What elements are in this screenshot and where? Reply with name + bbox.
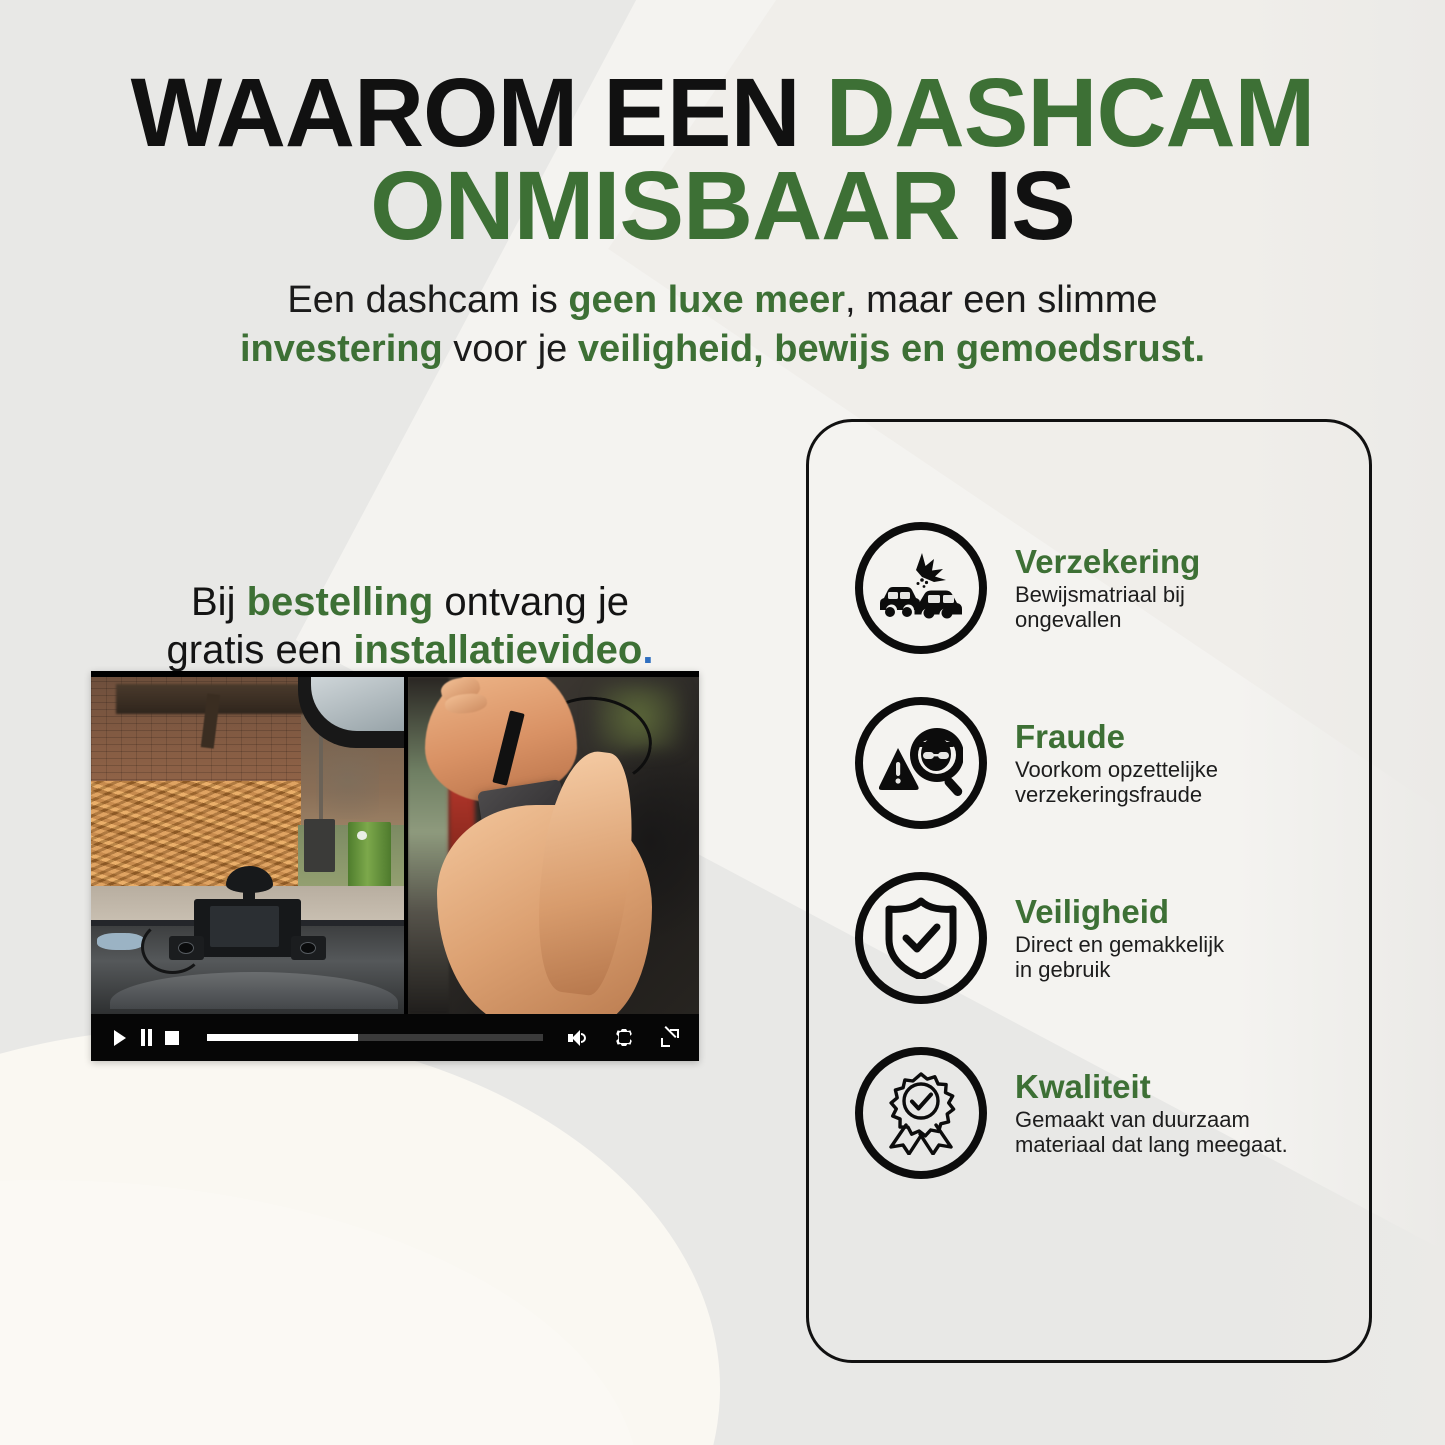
play-icon xyxy=(114,1030,126,1046)
video-thumbnail-dashcam-installed xyxy=(91,677,404,1014)
installation-video-player[interactable] xyxy=(91,671,699,1061)
feature-item-fraude: Fraude Voorkom opzettelijke verzekerings… xyxy=(855,697,1355,829)
video-controls-right xyxy=(565,1025,683,1051)
feature-title: Veiligheid xyxy=(1015,895,1355,930)
stop-icon xyxy=(165,1031,179,1045)
photo-dashcam-dashboard xyxy=(91,677,404,1014)
feature-item-veiligheid: Veiligheid Direct en gemakkelijk in gebr… xyxy=(855,872,1355,1004)
subtitle-bold-3: veiligheid, bewijs en gemoedsrust. xyxy=(578,328,1205,370)
fullscreen-icon xyxy=(661,1029,679,1047)
caption-bold-2: installatievideo xyxy=(353,628,642,672)
headline-line-2-black: IS xyxy=(985,151,1075,260)
photo-blue-object xyxy=(97,933,144,950)
gear-icon xyxy=(616,1029,633,1046)
fullscreen-button[interactable] xyxy=(657,1025,683,1051)
settings-button[interactable] xyxy=(611,1025,637,1051)
photo-bin-dark xyxy=(304,819,335,873)
subtitle-part-1: Een dashcam is xyxy=(287,279,568,321)
caption-part-3: gratis een xyxy=(167,628,354,672)
caption-bold-1: bestelling xyxy=(247,580,434,624)
headline-line-2-green: ONMISBAAR xyxy=(370,151,985,260)
feature-text-kwaliteit: Kwaliteit Gemaakt van duurzaam materiaal… xyxy=(1015,1068,1355,1157)
photo-hands-holding-module xyxy=(408,677,699,1014)
feature-text-fraude: Fraude Voorkom opzettelijke verzekerings… xyxy=(1015,718,1355,807)
video-thumbnail-hands-module xyxy=(408,677,699,1014)
photo-power-cable xyxy=(141,920,204,974)
subtitle-bold-2: investering xyxy=(240,328,443,370)
feature-desc-line-2: verzekeringsfraude xyxy=(1015,782,1202,807)
page-subtitle: Een dashcam is geen luxe meer, maar een … xyxy=(0,276,1445,374)
feature-text-verzekering: Verzekering Bewijsmatriaal bij ongevalle… xyxy=(1015,543,1355,632)
feature-description: Gemaakt van duurzaam materiaal dat lang … xyxy=(1015,1108,1355,1158)
feature-desc-line-1: Voorkom opzettelijke xyxy=(1015,757,1218,782)
shield-check-icon xyxy=(855,872,987,1004)
caption-period: . xyxy=(642,628,653,672)
pause-icon xyxy=(140,1029,153,1046)
stop-button[interactable] xyxy=(159,1025,185,1051)
volume-button[interactable] xyxy=(565,1025,591,1051)
feature-description: Voorkom opzettelijke verzekeringsfraude xyxy=(1015,758,1355,808)
quality-badge-icon xyxy=(855,1047,987,1179)
caption-part-1: Bij xyxy=(191,580,247,624)
video-frames xyxy=(91,677,699,1014)
feature-desc-line-2: ongevallen xyxy=(1015,607,1121,632)
subtitle-bold-1: geen luxe meer xyxy=(568,279,845,321)
feature-item-verzekering: Verzekering Bewijsmatriaal bij ongevalle… xyxy=(855,522,1355,654)
feature-desc-line-1: Direct en gemakkelijk xyxy=(1015,932,1224,957)
pause-button[interactable] xyxy=(133,1025,159,1051)
volume-icon xyxy=(568,1030,588,1046)
feature-description: Direct en gemakkelijk in gebruik xyxy=(1015,933,1355,983)
feature-desc-line-2: materiaal dat lang meegaat. xyxy=(1015,1132,1288,1157)
feature-description: Bewijsmatriaal bij ongevallen xyxy=(1015,583,1355,633)
feature-title: Kwaliteit xyxy=(1015,1070,1355,1105)
subtitle-part-3: voor je xyxy=(443,328,578,370)
subtitle-part-2: , maar een slimme xyxy=(845,279,1158,321)
feature-desc-line-2: in gebruik xyxy=(1015,957,1110,982)
features-card: Verzekering Bewijsmatriaal bij ongevalle… xyxy=(806,419,1372,1363)
play-button[interactable] xyxy=(107,1025,133,1051)
video-caption: Bij bestelling ontvang je gratis een ins… xyxy=(100,578,720,674)
page-title: WAAROM EEN DASHCAM ONMISBAAR IS xyxy=(0,66,1445,252)
feature-title: Verzekering xyxy=(1015,545,1355,580)
feature-desc-line-1: Gemaakt van duurzaam xyxy=(1015,1107,1250,1132)
photo-dashcam-screen xyxy=(210,906,279,946)
video-controls-bar[interactable] xyxy=(91,1014,699,1061)
photo-dashcam-lens-right xyxy=(291,936,325,960)
fraud-magnifier-icon xyxy=(855,697,987,829)
video-progress-fill xyxy=(207,1034,358,1041)
feature-item-kwaliteit: Kwaliteit Gemaakt van duurzaam materiaal… xyxy=(855,1047,1355,1179)
feature-title: Fraude xyxy=(1015,720,1355,755)
feature-desc-line-1: Bewijsmatriaal bij xyxy=(1015,582,1185,607)
feature-text-veiligheid: Veiligheid Direct en gemakkelijk in gebr… xyxy=(1015,893,1355,982)
video-progress-slider[interactable] xyxy=(207,1034,543,1041)
caption-part-2: ontvang je xyxy=(433,580,629,624)
car-crash-icon xyxy=(855,522,987,654)
